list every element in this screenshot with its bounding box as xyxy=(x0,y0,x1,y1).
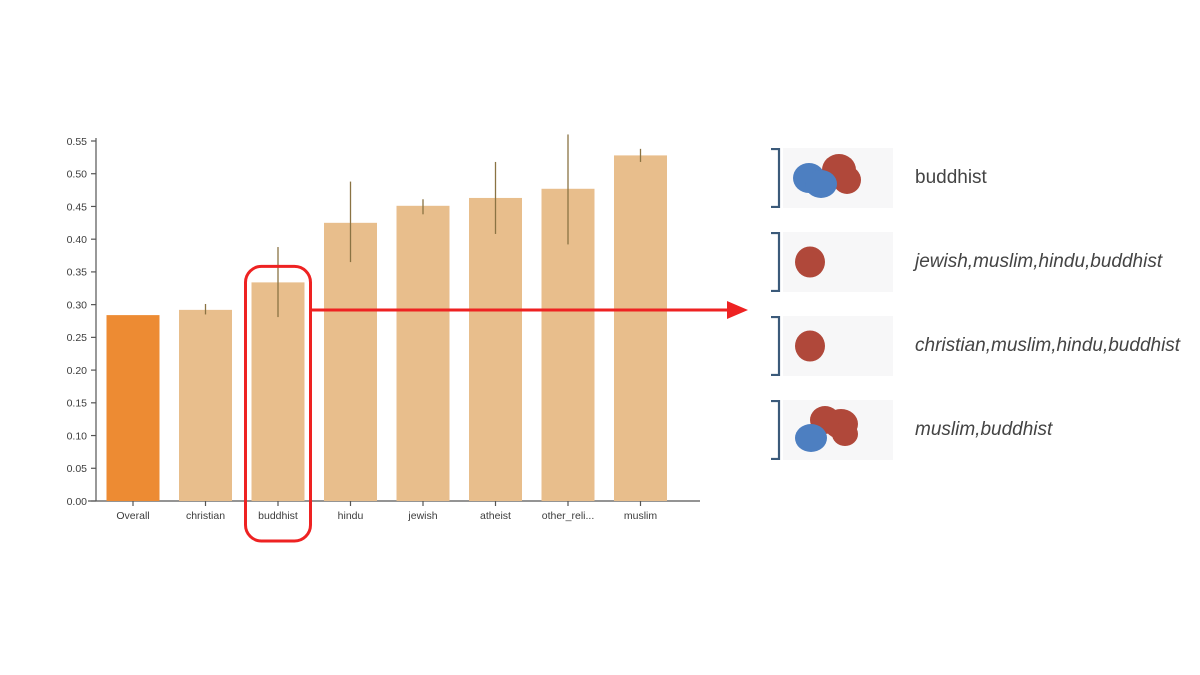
callout-thumbnail-1 xyxy=(783,232,893,292)
callout-item-1[interactable]: jewish,muslim,hindu,buddhist xyxy=(770,230,1200,294)
x-tick-label: atheist xyxy=(480,510,511,522)
bar-jewish xyxy=(397,206,450,501)
callout-thumbnail-3 xyxy=(783,400,893,460)
bracket-icon xyxy=(770,232,782,292)
bar-atheist xyxy=(469,198,522,501)
y-tick-label: 0.45 xyxy=(67,201,88,213)
bar-hindu xyxy=(324,223,377,501)
bracket-icon xyxy=(770,148,782,208)
x-tick-label: muslim xyxy=(624,510,658,522)
x-tick-label: christian xyxy=(186,510,225,522)
y-tick-label: 0.30 xyxy=(67,299,88,311)
bar-chart-svg: 0.000.050.100.150.200.250.300.350.400.45… xyxy=(0,0,760,675)
y-tick-label: 0.10 xyxy=(67,430,88,442)
y-tick-label: 0.40 xyxy=(67,234,88,246)
x-tick-label: hindu xyxy=(338,510,364,522)
callout-list: buddhist jewish,muslim,hindu,buddhist ch… xyxy=(770,146,1200,496)
annotation-arrow-head xyxy=(727,301,748,319)
callout-item-2[interactable]: christian,muslim,hindu,buddhist xyxy=(770,314,1200,378)
callout-item-3[interactable]: muslim,buddhist xyxy=(770,398,1200,462)
x-tick-label: buddhist xyxy=(258,510,298,522)
bar-christian xyxy=(179,310,232,501)
bracket-icon xyxy=(770,316,782,376)
callout-label-1: jewish,muslim,hindu,buddhist xyxy=(915,251,1162,273)
bar-chart-panel: 0.000.050.100.150.200.250.300.350.400.45… xyxy=(0,0,760,675)
callout-thumbnail-2 xyxy=(783,316,893,376)
bar-overall xyxy=(107,315,160,501)
callout-label-2: christian,muslim,hindu,buddhist xyxy=(915,335,1180,357)
callout-thumbnail-0 xyxy=(783,148,893,208)
x-tick-label: other_reli... xyxy=(542,510,595,522)
callout-label-3: muslim,buddhist xyxy=(915,419,1052,441)
y-tick-label: 0.20 xyxy=(67,365,88,377)
y-tick-label: 0.15 xyxy=(67,398,88,410)
callout-item-0[interactable]: buddhist xyxy=(770,146,1200,210)
bracket-icon xyxy=(770,400,782,460)
x-tick-label: Overall xyxy=(116,510,149,522)
y-tick-label: 0.25 xyxy=(67,332,88,344)
y-tick-label: 0.55 xyxy=(67,136,88,148)
bar-muslim xyxy=(614,155,667,501)
x-tick-label: jewish xyxy=(407,510,437,522)
y-tick-label: 0.50 xyxy=(67,169,88,181)
y-tick-label: 0.35 xyxy=(67,267,88,279)
y-tick-label: 0.05 xyxy=(67,463,88,475)
y-tick-label: 0.00 xyxy=(67,496,88,508)
callout-label-0: buddhist xyxy=(915,167,987,189)
